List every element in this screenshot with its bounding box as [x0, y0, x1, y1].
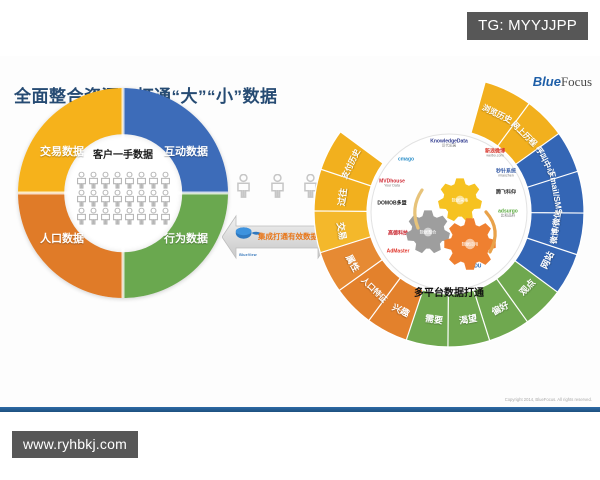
person-icon [88, 190, 99, 207]
right-wheel-chart: 支付历史过往交易属性人口特征兴趣需要渴望偏好观点网站微博/微信Email/SMS… [310, 62, 588, 362]
donut-segment-demographic-data: 人口数据 [40, 230, 84, 246]
person-icon [112, 208, 123, 225]
person-icon [76, 208, 87, 225]
logo-gaode-name: 高德科技 [388, 230, 408, 236]
watermark-top: TG: MYYJJPP [467, 12, 588, 40]
logo-gaode: 高德科技 [388, 231, 408, 236]
copyright-text: Copyright 2014, BlueFocus. All rights re… [505, 397, 592, 402]
wheel-hub-title: 多平台数据打通 [414, 284, 484, 299]
person-icon [124, 190, 135, 207]
person-icon [100, 208, 111, 225]
slide-canvas: 全面整合资源，打通“大”“小”数据 BlueFocus 交易数据 互动数据 人口… [0, 56, 600, 412]
logo-knowledgedata: KnowledgeData识代出高 [430, 139, 468, 148]
person-icon [148, 190, 159, 207]
person-icon [124, 172, 135, 189]
bottom-rule [0, 407, 600, 412]
logo-adsurgo-sub: 比和品科 [498, 215, 518, 219]
person-icon [270, 174, 285, 198]
person-icon [148, 208, 159, 225]
screenshot-root: TG: MYYJJPP 全面整合资源，打通“大”“小”数据 BlueFocus … [0, 0, 600, 480]
logo-admaster: AdMaster [387, 249, 410, 254]
donut-segment-behavior-data: 行为数据 [164, 230, 208, 246]
logo-weibo-sub: weibo.com [485, 155, 505, 159]
person-icon [112, 172, 123, 189]
person-icon [100, 190, 111, 207]
logo-tengfei: 腾飞科仰 [496, 190, 516, 195]
person-icon [88, 208, 99, 225]
blueview-logo-text: BlueView [239, 253, 257, 257]
seg-past-label: 过往 [334, 187, 349, 207]
person-icon [148, 172, 159, 189]
logo-knowledgedata-sub: 识代出高 [430, 145, 468, 149]
person-icon [76, 190, 87, 207]
logo-mvdhouse: MVDhouseYour Data [379, 179, 405, 188]
logo-mvdhouse-sub: Your Data [379, 185, 405, 189]
logo-cmago-name: cmago [398, 156, 414, 162]
logo-tengfei-name: 腾飞科仰 [496, 189, 516, 195]
person-icon [160, 190, 171, 207]
person-icon [88, 172, 99, 189]
logo-weibo: 新浪微博weibo.com [485, 149, 505, 158]
logo-domob: DOMOB多盟 [377, 201, 406, 206]
left-donut-chart: 交易数据 互动数据 人口数据 行为数据 客户一手数据 [18, 88, 228, 298]
person-icon [136, 172, 147, 189]
person-icon [136, 190, 147, 207]
logo-miaozhen: 秒针系统miaozhen [496, 169, 516, 178]
person-icon [112, 190, 123, 207]
connector-label: 集成打通有效数据 [258, 231, 318, 242]
person-icon [136, 208, 147, 225]
person-icon [100, 172, 111, 189]
person-icon [160, 208, 171, 225]
person-icon [236, 174, 251, 198]
donut-center-title: 客户一手数据 [18, 146, 228, 161]
people-icon-grid [71, 172, 175, 225]
logo-miaozhen-sub: miaozhen [496, 175, 516, 179]
person-icon [160, 172, 171, 189]
logo-cmago: cmago [398, 157, 414, 162]
wheel-segments [310, 62, 588, 362]
logo-bdu: BDU [471, 264, 482, 269]
watermark-bottom: www.ryhbkj.com [12, 431, 138, 458]
connector-people-icons [236, 174, 318, 198]
logo-admaster-name: AdMaster [387, 248, 410, 254]
logo-bdu-name: BDU [471, 263, 482, 269]
person-icon [124, 208, 135, 225]
logo-domob-name: DOMOB多盟 [377, 200, 406, 206]
logo-adsurgo: adsurgo比和品科 [498, 209, 518, 218]
person-icon [76, 172, 87, 189]
